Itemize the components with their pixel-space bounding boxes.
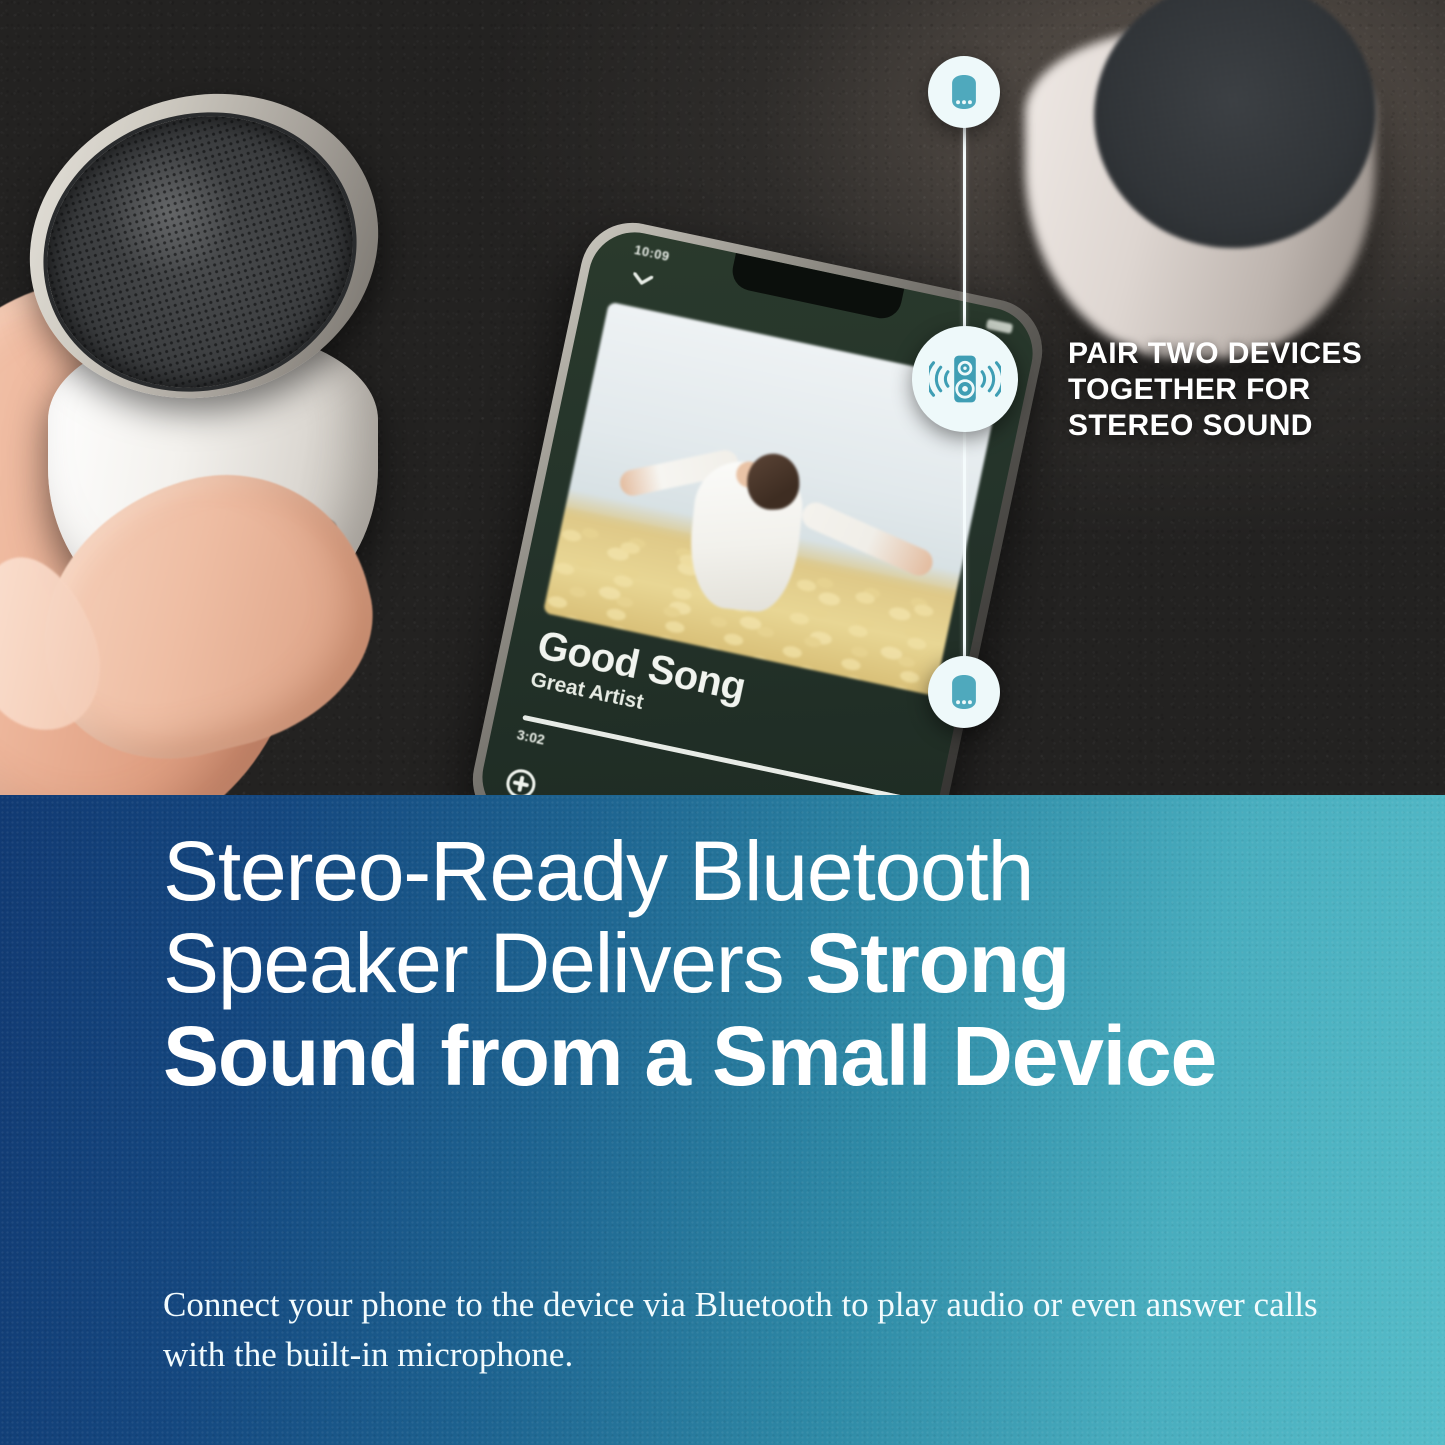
callout-line-1: Pair two devices <box>1068 336 1428 372</box>
track-time: 3:02 <box>516 726 547 747</box>
phone-notch <box>729 253 904 322</box>
callout-line-3: stereo sound <box>1068 408 1428 444</box>
product-photo-area: 10:09 Good Song <box>0 0 1445 795</box>
chevron-down-icon[interactable] <box>631 272 653 287</box>
status-bar-time: 10:09 <box>633 242 671 264</box>
callout-text: Pair two devices together for stereo sou… <box>1068 336 1428 444</box>
shuffle-icon[interactable] <box>502 765 540 795</box>
headline: Stereo-Ready Bluetooth Speaker Delivers … <box>163 825 1343 1102</box>
subtitle: Connect your phone to the device via Blu… <box>163 1280 1343 1379</box>
album-art-hair <box>746 453 800 511</box>
stereo-speaker-waves-icon <box>912 326 1018 432</box>
smartphone: 10:09 Good Song <box>476 213 1101 795</box>
marketing-text-band: Stereo-Ready Bluetooth Speaker Delivers … <box>0 795 1445 1445</box>
product-feature-graphic: 10:09 Good Song <box>0 0 1445 1445</box>
progress-bar[interactable] <box>522 715 906 795</box>
callout-line-2: together for <box>1068 372 1428 408</box>
bluetooth-speaker-icon <box>928 656 1000 728</box>
bluetooth-speaker-icon <box>928 56 1000 128</box>
